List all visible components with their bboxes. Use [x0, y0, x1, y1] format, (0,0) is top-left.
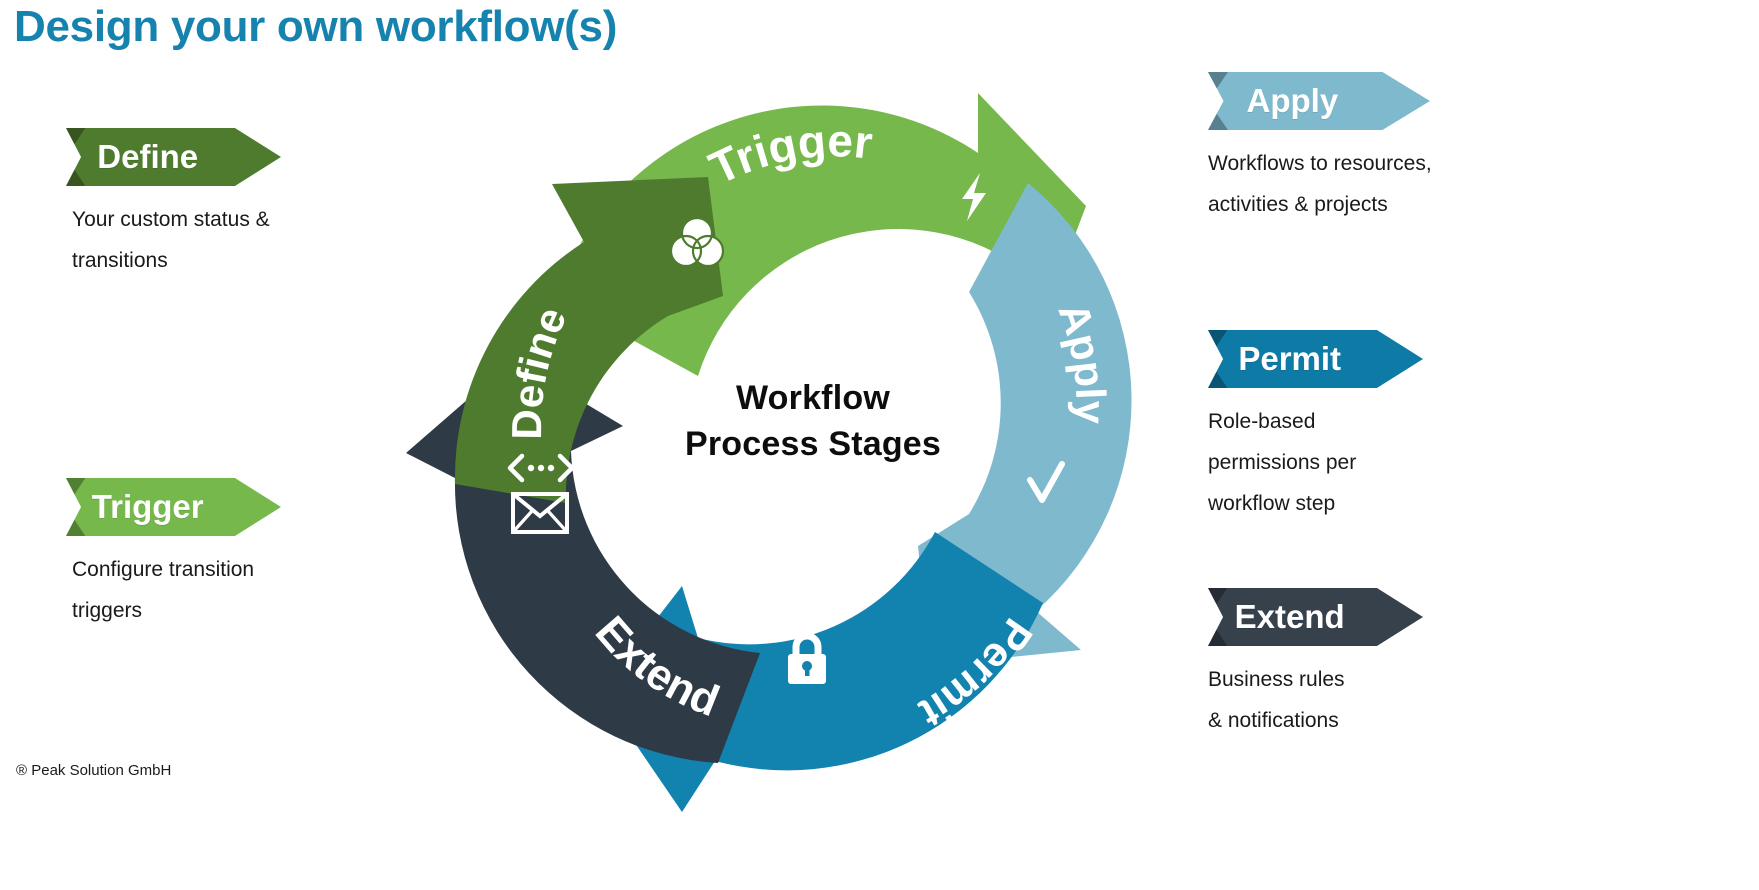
- trigger-desc-line-1: Configure transition: [72, 550, 366, 591]
- page-title: Design your own workflow(s): [14, 2, 617, 52]
- callout-trigger: Trigger Configure transition triggers: [66, 478, 366, 632]
- apply-arrow-label: Apply: [1208, 72, 1377, 130]
- define-desc-line-1: Your custom status &: [72, 200, 366, 241]
- apply-arrow-shape: Apply: [1208, 72, 1430, 130]
- trigger-desc-line-2: triggers: [72, 591, 366, 632]
- define-desc-line-2: transitions: [72, 241, 366, 282]
- callout-define: Define Your custom status & transitions: [66, 128, 366, 282]
- apply-desc-line-1: Workflows to resources,: [1208, 144, 1528, 185]
- callout-extend: Extend Business rules & notifications: [1208, 588, 1528, 742]
- callout-apply: Apply Workflows to resources, activities…: [1208, 72, 1528, 226]
- trigger-description: Configure transition triggers: [66, 550, 366, 632]
- permit-desc-line-1: Role-based: [1208, 402, 1528, 443]
- define-description: Your custom status & transitions: [66, 200, 366, 282]
- permit-arrow-label: Permit: [1208, 330, 1371, 388]
- permit-desc-line-2: permissions per: [1208, 443, 1528, 484]
- define-arrow-label: Define: [66, 128, 229, 186]
- callout-permit: Permit Role-based permissions per workfl…: [1208, 330, 1528, 525]
- extend-arrow-label: Extend: [1208, 588, 1371, 646]
- permit-description: Role-based permissions per workflow step: [1208, 402, 1528, 525]
- permit-desc-line-3: workflow step: [1208, 484, 1528, 525]
- trigger-arrow-label: Trigger: [66, 478, 229, 536]
- workflow-cycle-diagram: Trigger Apply Permit Extend Define: [418, 46, 1208, 836]
- extend-desc-line-2: & notifications: [1208, 701, 1528, 742]
- define-arrow-shape: Define: [66, 128, 281, 186]
- extend-description: Business rules & notifications: [1208, 660, 1528, 742]
- apply-description: Workflows to resources, activities & pro…: [1208, 144, 1528, 226]
- slide-canvas: Design your own workflow(s) Define Your …: [0, 0, 1759, 890]
- apply-desc-line-2: activities & projects: [1208, 185, 1528, 226]
- extend-arrow-shape: Extend: [1208, 588, 1423, 646]
- permit-arrow-shape: Permit: [1208, 330, 1423, 388]
- trigger-arrow-shape: Trigger: [66, 478, 281, 536]
- extend-desc-line-1: Business rules: [1208, 660, 1528, 701]
- footer-copyright: ® Peak Solution GmbH: [16, 762, 171, 779]
